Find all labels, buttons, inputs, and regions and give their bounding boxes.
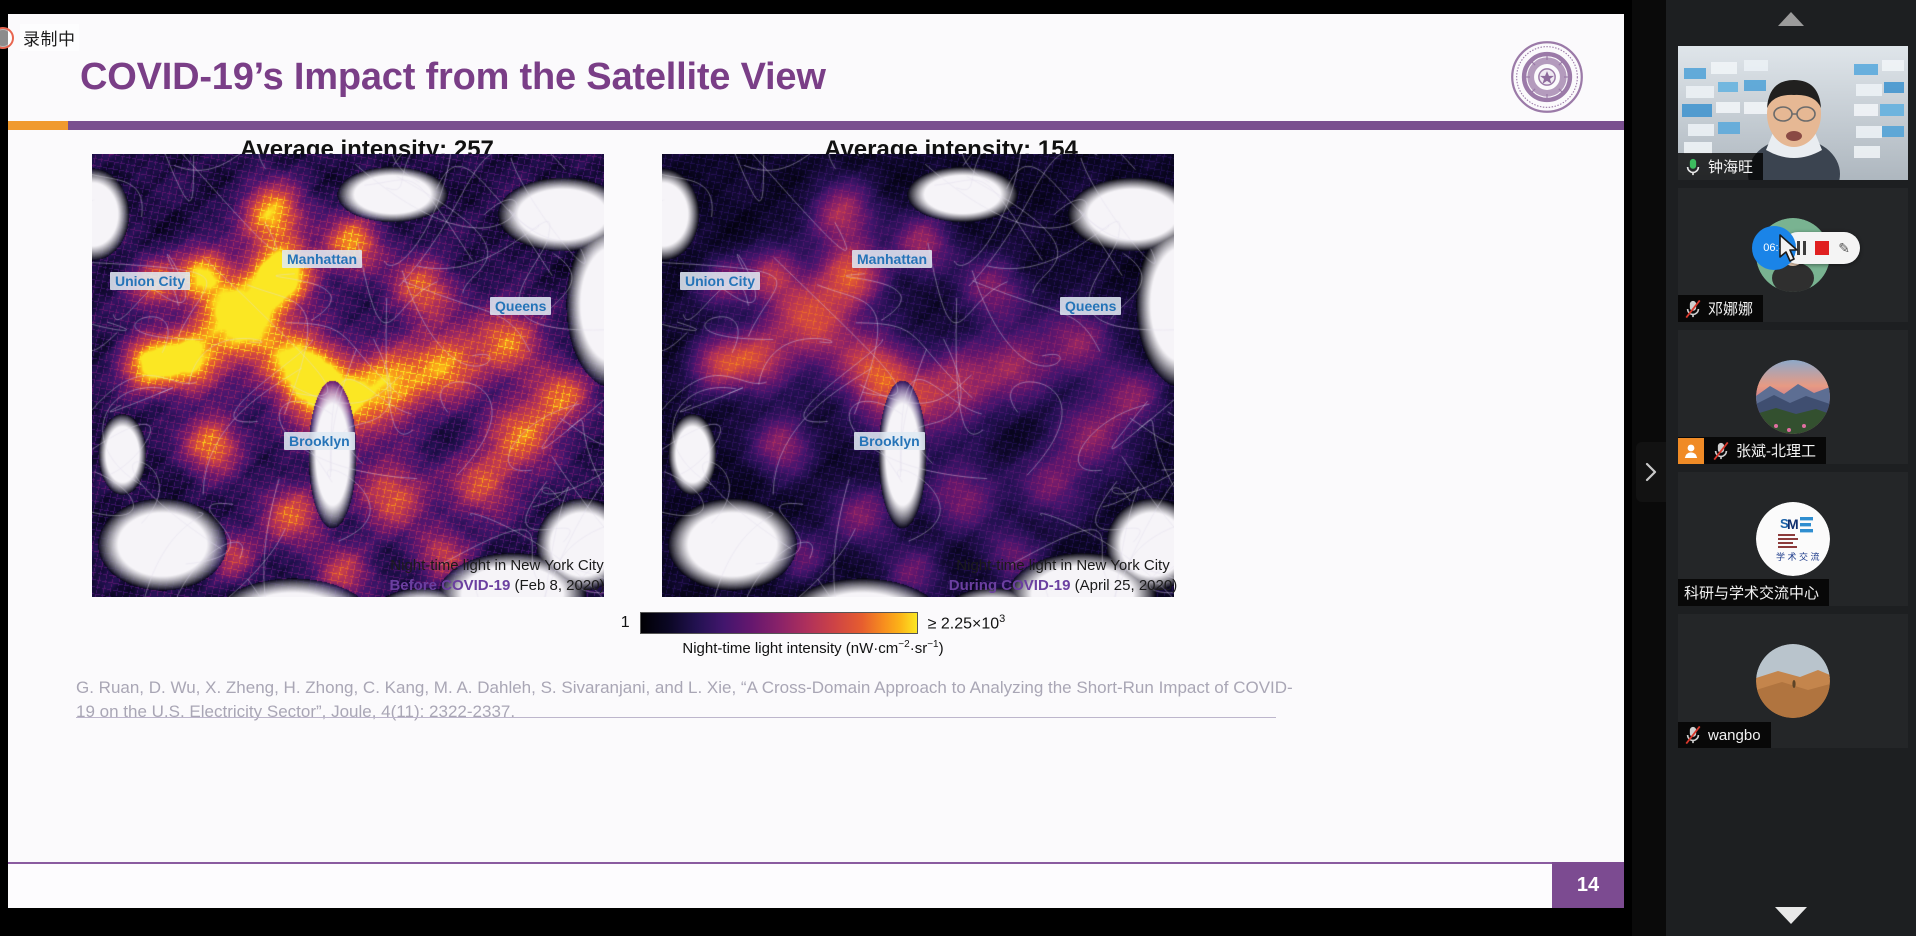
map-label-union-city-2: Union City <box>680 272 760 290</box>
map-label-manhattan-2: Manhattan <box>852 250 932 268</box>
nightlight-heatmap-canvas-during <box>662 154 1174 597</box>
caption-date-b: (April 25, 2020) <box>1070 577 1177 594</box>
sme-logo-avatar-icon: S M 学 术 交 流 <box>1756 502 1830 576</box>
participant-tile-3[interactable]: 张斌-北理工 <box>1678 330 1908 464</box>
colorbar-max-prefix: ≥ 2.25×10 <box>928 615 1000 632</box>
stop-icon[interactable] <box>1815 241 1829 255</box>
scroll-up-button[interactable] <box>1666 4 1916 34</box>
participant-nameplate-2: 邓娜娜 <box>1678 295 1763 322</box>
slide-page-number: 14 <box>1552 862 1624 908</box>
citation-underline <box>76 717 1276 718</box>
map-label-union-city: Union City <box>110 272 190 290</box>
cb-axis-sr: ·sr <box>910 640 928 657</box>
chevron-right-icon <box>1644 461 1658 483</box>
caption-line-2: Before COVID-19 (Feb 8, 2020) <box>282 576 712 596</box>
participant-nameplate-4: 科研与学术交流中心 <box>1678 579 1829 606</box>
microphone-unmuted-icon <box>1684 157 1702 177</box>
tsinghua-university-seal-icon <box>1510 40 1584 114</box>
svg-text:学 术 交 流: 学 术 交 流 <box>1776 551 1820 562</box>
caption-emphasis: Before COVID-19 <box>389 577 510 594</box>
map-label-queens: Queens <box>490 297 551 315</box>
desert-dunes-avatar-icon <box>1756 644 1830 718</box>
pencil-annotate-icon[interactable]: ✎ <box>1838 240 1850 257</box>
nightlight-heatmap-canvas-before <box>92 154 604 597</box>
caption-emphasis-b: During COVID-19 <box>949 577 1071 594</box>
page-title: COVID-19’s Impact from the Satellite Vie… <box>80 56 826 99</box>
participant-tile-1[interactable]: 钟海旺 <box>1678 46 1908 180</box>
microphone-muted-icon-3 <box>1712 441 1730 461</box>
participant-rail[interactable]: 钟海旺 06:4 ✎ <box>1666 0 1916 936</box>
screen-share-area: COVID-19’s Impact from the Satellite Vie… <box>0 0 1632 936</box>
participant-name-2: 邓娜娜 <box>1708 298 1753 319</box>
triangle-up-icon <box>1778 12 1804 26</box>
colorbar-legend: 1 ≥ 2.25×103 Night-time light intensity … <box>463 612 1163 657</box>
cb-axis-close: ) <box>939 640 944 657</box>
mountain-sunset-avatar-icon <box>1756 360 1830 434</box>
host-badge-icon <box>1678 438 1704 464</box>
participant-nameplate-3: 张斌-北理工 <box>1678 437 1826 464</box>
map-label-queens-2: Queens <box>1060 297 1121 315</box>
presentation-slide: COVID-19’s Impact from the Satellite Vie… <box>8 14 1624 908</box>
caption-line-2-b: During COVID-19 (April 25, 2020) <box>848 576 1278 596</box>
participant-tile-4[interactable]: S M 学 术 交 流 科研与学术交流中心 <box>1678 472 1908 606</box>
triangle-down-icon <box>1775 907 1807 924</box>
microphone-muted-icon-5 <box>1684 725 1702 745</box>
participant-nameplate-5: wangbo <box>1678 722 1771 748</box>
nightlight-map-before: Union City Manhattan Queens Brooklyn <box>92 154 604 597</box>
colorbar-max-label: ≥ 2.25×103 <box>928 613 1006 633</box>
cb-axis-sr-exp: −1 <box>927 639 938 650</box>
recording-label: 录制中 <box>20 24 79 51</box>
slide-footer <box>8 862 1624 908</box>
nightlight-map-during: Union City Manhattan Queens Brooklyn <box>662 154 1174 597</box>
participant-name-5: wangbo <box>1708 727 1761 744</box>
colorbar-max-exponent: 3 <box>999 613 1005 625</box>
caption-date: (Feb 8, 2020) <box>510 577 604 594</box>
map-label-manhattan: Manhattan <box>282 250 362 268</box>
participant-tile-2[interactable]: 06:4 ✎ 邓娜娜 <box>1678 188 1908 322</box>
mouse-cursor-icon <box>1778 234 1800 269</box>
colorbar-gradient <box>640 612 918 634</box>
participant-name-4: 科研与学术交流中心 <box>1684 582 1819 603</box>
cb-axis-cm-exp: −2 <box>898 639 909 650</box>
map-label-brooklyn-2: Brooklyn <box>854 432 925 450</box>
colorbar-row: 1 ≥ 2.25×103 <box>463 612 1163 634</box>
recording-indicator: 录制中 <box>0 24 79 51</box>
zoom-meeting-window: COVID-19’s Impact from the Satellite Vie… <box>0 0 1916 936</box>
participant-name-3: 张斌-北理工 <box>1736 440 1816 461</box>
colorbar-axis-label: Night-time light intensity (nW·cm−2·sr−1… <box>463 639 1163 657</box>
caption-line-1-b: Night-time light in New York City <box>848 556 1278 576</box>
microphone-muted-icon <box>1684 299 1702 319</box>
svg-text:M: M <box>1787 516 1799 532</box>
caption-line-1: Night-time light in New York City <box>282 556 712 576</box>
map-caption-before: Night-time light in New York City Before… <box>282 556 712 597</box>
participant-nameplate-1: 钟海旺 <box>1678 153 1763 180</box>
participant-name-1: 钟海旺 <box>1708 156 1753 177</box>
avatar-5 <box>1756 644 1830 718</box>
title-divider-accent <box>8 121 68 130</box>
record-dot-icon <box>0 27 14 49</box>
map-label-brooklyn: Brooklyn <box>284 432 355 450</box>
cb-axis-cm: ·cm <box>873 640 898 657</box>
collapse-participant-rail-button[interactable] <box>1636 442 1666 502</box>
avatar-3 <box>1756 360 1830 434</box>
scroll-down-button[interactable] <box>1666 900 1916 930</box>
participant-tile-5[interactable]: wangbo <box>1678 614 1908 748</box>
title-divider-rule <box>8 121 1624 130</box>
avatar-4: S M 学 术 交 流 <box>1756 502 1830 576</box>
cb-axis-main: Night-time light intensity (nW <box>682 640 873 657</box>
colorbar-min-label: 1 <box>621 614 630 632</box>
map-caption-during: Night-time light in New York City During… <box>848 556 1278 597</box>
